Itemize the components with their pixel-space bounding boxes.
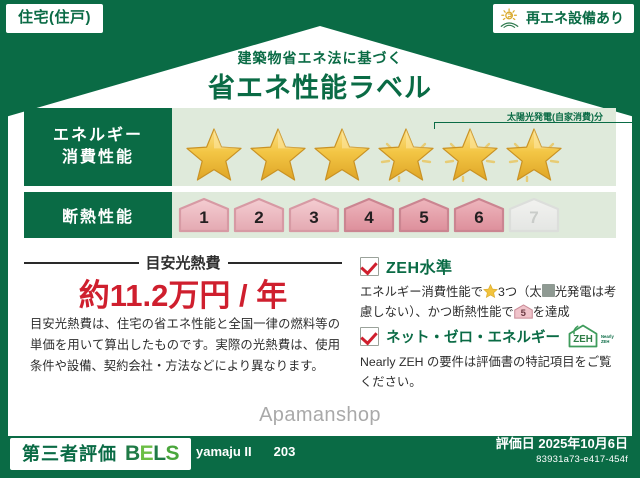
insulation-grade-scale: 1 2 3: [178, 197, 560, 233]
watermark: Apamanshop: [0, 404, 640, 427]
label-card-content: 建築物省エネ法に基づく 省エネ性能ラベル エネルギー 消費性能 太陽光発電(自家…: [8, 26, 632, 436]
redacted-character: [542, 284, 555, 297]
insulation-grade-7: 7: [508, 197, 560, 233]
grade-value: 7: [529, 209, 538, 233]
bels-letter-l: L: [153, 442, 165, 465]
star-icon: [184, 124, 244, 182]
star-icon: [504, 124, 564, 182]
grade-value: 6: [474, 209, 483, 233]
insulation-grade-3: 3: [288, 197, 340, 233]
header-subtitle: 建築物省エネ法に基づく: [8, 48, 632, 68]
grade-value: 3: [309, 209, 318, 233]
bels-letter-s: S: [166, 442, 180, 465]
star-icon: [248, 124, 308, 182]
zeh-logo-subtext-line2: ZEH: [601, 339, 609, 344]
insulation-grade-6: 6: [453, 197, 505, 233]
zeh-text-part1: エネルギー消費性能で: [360, 285, 483, 299]
star-5: [440, 124, 500, 182]
grade-value: 4: [364, 209, 373, 233]
heading-rule-right: [228, 262, 343, 264]
energy-performance-label: エネルギー 消費性能: [24, 108, 172, 186]
bels-plate: 第三者評価 BELS: [10, 438, 191, 470]
sun-icon: [499, 8, 521, 28]
third-party-eval-label: 第三者評価: [22, 445, 117, 463]
zeh-text-part4: を達成: [533, 305, 570, 319]
star-icon: [376, 124, 436, 182]
bels-logo: BELS: [125, 443, 179, 464]
zeh-standard-title: ZEH水準: [386, 254, 453, 278]
dwelling-type-badge: 住宅(住戸): [6, 4, 103, 33]
insulation-performance-body: 1 2 3: [172, 192, 616, 238]
net-zero-text: Nearly ZEH の要件は評価書の特記項目をご覧ください。: [360, 353, 622, 393]
insulation-performance-label: 断熱性能: [24, 192, 172, 238]
bels-letter-b: B: [125, 442, 140, 465]
mini-grade-value: 5: [514, 306, 533, 321]
dwelling-type-label: 住宅(住戸): [18, 9, 91, 26]
star-icon: [440, 124, 500, 182]
header-title: 省エネ性能ラベル: [8, 66, 632, 105]
mini-star-icon: [483, 284, 498, 298]
energy-performance-label-line1: エネルギー: [53, 125, 143, 147]
insulation-grade-5: 5: [398, 197, 450, 233]
star-rating: [184, 124, 628, 182]
net-zero-title-row: ネット・ゼロ・エネルギー ZEH Nearly ZEH: [360, 324, 622, 348]
grade-value: 5: [419, 209, 428, 233]
renewable-equipment-badge: 再エネ設備あり: [493, 4, 634, 33]
bels-letter-e: E: [140, 442, 154, 465]
insulation-grade-4: 4: [343, 197, 395, 233]
insulation-grade-1: 1: [178, 197, 230, 233]
zeh-logo-subtext: Nearly ZEH: [601, 335, 614, 348]
energy-performance-label-line2: 消費性能: [62, 147, 134, 169]
energy-performance-panel: エネルギー 消費性能 太陽光発電(自家消費)分: [24, 108, 616, 186]
evaluation-id: 83931a73-e417-454f: [496, 453, 628, 466]
utility-cost-note: 目安光熱費は、住宅の省エネ性能と全国一律の燃料等の単価を用いて算出したものです。…: [30, 314, 340, 377]
net-zero-energy-block: ネット・ゼロ・エネルギー ZEH Nearly ZEH Nearly ZEH の…: [360, 324, 622, 393]
zeh-standard-title-row: ZEH水準: [360, 254, 622, 278]
star-6: [504, 124, 564, 182]
energy-performance-body: 太陽光発電(自家消費)分: [172, 108, 616, 186]
zeh-logo: ZEH Nearly ZEH: [567, 324, 614, 348]
zeh-text-part2: 3つ（太: [498, 285, 542, 299]
svg-text:ZEH: ZEH: [573, 334, 593, 345]
star-1: [184, 124, 244, 182]
zeh-standard-checkbox: [360, 257, 379, 276]
grade-value: 1: [199, 209, 208, 233]
zeh-house-logo-icon: ZEH: [567, 324, 599, 348]
renewable-equipment-label: 再エネ設備あり: [526, 11, 624, 25]
net-zero-checkbox: [360, 327, 379, 346]
net-zero-title: ネット・ゼロ・エネルギー: [386, 326, 560, 347]
star-2: [248, 124, 308, 182]
zeh-standard-block: ZEH水準 エネルギー消費性能で3つ（太光発電は考慮しない）、かつ断熱性能で5を…: [360, 254, 622, 323]
star-3: [312, 124, 372, 182]
building-identity: yamaju II 203: [196, 444, 295, 459]
insulation-grade-2: 2: [233, 197, 285, 233]
star-icon: [312, 124, 372, 182]
evaluation-info: 評価日 2025年10月6日 83931a73-e417-454f: [496, 436, 628, 466]
mini-grade-house-icon: 5: [514, 304, 533, 319]
grade-value: 2: [254, 209, 263, 233]
insulation-performance-panel: 断熱性能 1 2: [24, 192, 616, 238]
building-name: yamaju II: [196, 444, 252, 459]
heading-rule-left: [24, 262, 139, 264]
evaluation-date: 評価日 2025年10月6日: [496, 436, 628, 453]
star-4: [376, 124, 436, 182]
room-number: 203: [274, 444, 296, 459]
utility-cost-value: 約11.2万円 / 年: [24, 270, 342, 315]
zeh-standard-text: エネルギー消費性能で3つ（太光発電は考慮しない）、かつ断熱性能で5を達成: [360, 283, 622, 323]
